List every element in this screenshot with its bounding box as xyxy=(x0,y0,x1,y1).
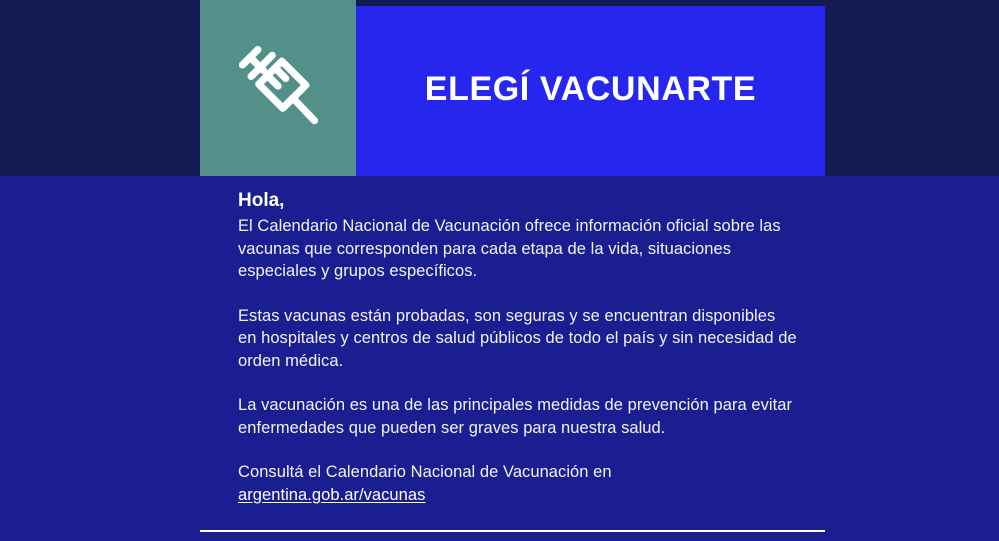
paragraph-closing: Consultá el Calendario Nacional de Vacun… xyxy=(238,461,798,506)
poster-header: ELEGÍ VACUNARTE xyxy=(200,0,825,176)
greeting-text: Hola, xyxy=(238,188,798,214)
content-body: Hola, El Calendario Nacional de Vacunaci… xyxy=(238,188,798,506)
page-title: ELEGÍ VACUNARTE xyxy=(425,72,756,110)
syringe-icon xyxy=(230,40,326,136)
paragraph-safety-availability: Estas vacunas están probadas, son segura… xyxy=(238,305,798,373)
paragraph-calendar-info: El Calendario Nacional de Vacunación ofr… xyxy=(238,215,798,283)
bottom-divider xyxy=(200,530,825,532)
closing-prefix-text: Consultá el Calendario Nacional de Vacun… xyxy=(238,463,612,481)
paragraph-prevention: La vacunación es una de las principales … xyxy=(238,394,798,439)
vaccine-calendar-link[interactable]: argentina.gob.ar/vacunas xyxy=(238,486,425,504)
header-icon-panel xyxy=(200,0,356,176)
poster-canvas: ELEGÍ VACUNARTE Hola, El Calendario Naci… xyxy=(0,0,999,541)
header-title-panel: ELEGÍ VACUNARTE xyxy=(356,6,825,176)
